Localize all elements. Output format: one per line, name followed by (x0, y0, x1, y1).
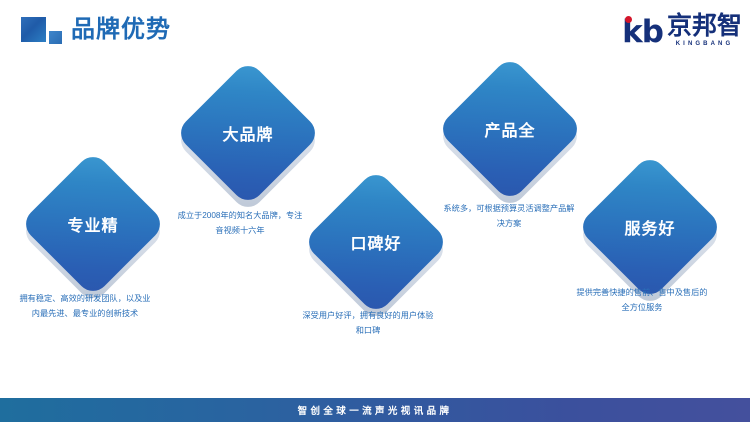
logo-chinese-name: 京邦智 (667, 14, 742, 39)
footer-bar: 智创全球一流声光视讯品牌 (0, 398, 750, 422)
diamond-shape-1[interactable]: 专业精 (41, 172, 145, 276)
decorative-square-large (20, 16, 47, 43)
brand-logo: kb 京邦智 KINGBANG (622, 14, 742, 50)
logo-dot-icon (625, 16, 632, 23)
diamond-shape-4[interactable]: 产品全 (458, 77, 562, 181)
diamond-label-1: 专业精 (41, 172, 145, 276)
page-title: 品牌优势 (71, 14, 171, 46)
diamond-shape-2[interactable]: 大品牌 (196, 81, 300, 185)
logo-text-block: 京邦智 KINGBANG (667, 14, 742, 49)
feature-description-1: 拥有稳定、高效的研发团队，以及业内最先进、最专业的创新技术 (19, 291, 151, 321)
feature-description-5: 提供完善快捷的售前、售中及售后的全方位服务 (576, 285, 708, 315)
feature-description-4: 系统多，可根据预算灵活调整产品解决方案 (443, 201, 575, 231)
logo-english-name: KINGBANG (667, 40, 742, 49)
diamond-label-3: 口碑好 (324, 190, 428, 294)
decorative-square-small (48, 30, 63, 45)
feature-description-3: 深受用户好评，拥有良好的用户体验和口碑 (302, 308, 434, 338)
diamond-label-5: 服务好 (598, 175, 702, 279)
logo-mark-kb: kb (622, 17, 663, 48)
diamond-shape-5[interactable]: 服务好 (598, 175, 702, 279)
diamond-label-4: 产品全 (458, 77, 562, 181)
footer-slogan: 智创全球一流声光视讯品牌 (298, 403, 453, 417)
diamond-label-2: 大品牌 (196, 81, 300, 185)
page-header: 品牌优势 kb 京邦智 KINGBANG (0, 0, 750, 62)
diamond-shape-3[interactable]: 口碑好 (324, 190, 428, 294)
feature-description-2: 成立于2008年的知名大品牌，专注音视频十六年 (174, 208, 306, 238)
